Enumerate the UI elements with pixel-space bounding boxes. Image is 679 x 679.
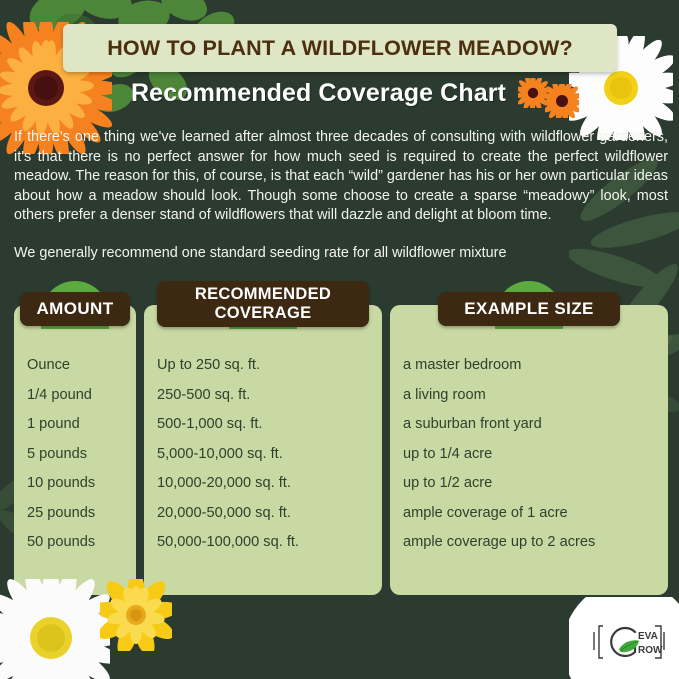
logo-text-row: ROW bbox=[638, 645, 663, 656]
column-header-coverage: RECOMMENDED COVERAGE bbox=[157, 281, 369, 327]
subtitle-row: Recommended Coverage Chart bbox=[0, 78, 679, 108]
table-cell: ample coverage of 1 acre bbox=[390, 499, 668, 529]
table-cell: a living room bbox=[390, 381, 668, 411]
table-cell: 5,000-10,000 sq. ft. bbox=[144, 440, 382, 470]
logo-text-eva: EVA bbox=[638, 631, 658, 642]
table-cell: 50,000-100,000 sq. ft. bbox=[144, 528, 382, 558]
table-cell: 1 pound bbox=[14, 410, 136, 440]
recommendation-paragraph: We generally recommend one standard seed… bbox=[14, 244, 668, 264]
table-cell: 50 pounds bbox=[14, 528, 136, 558]
coverage-table: AMOUNT Ounce 1/4 pound 1 pound 5 pounds … bbox=[14, 305, 668, 595]
small-orange-flower-icon bbox=[518, 78, 548, 108]
table-cell: 1/4 pound bbox=[14, 381, 136, 411]
column-header-amount: AMOUNT bbox=[20, 292, 130, 326]
column-header-amount-label: AMOUNT bbox=[37, 299, 114, 319]
table-cell: 250-500 sq. ft. bbox=[144, 381, 382, 411]
page-title: HOW TO PLANT A WILDFLOWER MEADOW? bbox=[107, 36, 573, 61]
table-cell: 20,000-50,000 sq. ft. bbox=[144, 499, 382, 529]
table-cell: 10,000-20,000 sq. ft. bbox=[144, 469, 382, 499]
intro-paragraph: If there's one thing we've learned after… bbox=[14, 128, 668, 226]
table-column-coverage: RECOMMENDED COVERAGE Up to 250 sq. ft. 2… bbox=[144, 305, 382, 595]
table-cell: 25 pounds bbox=[14, 499, 136, 529]
brand-logo-corner: EVA ROW bbox=[569, 597, 679, 679]
table-cell: Up to 250 sq. ft. bbox=[144, 351, 382, 381]
column-header-coverage-label: RECOMMENDED COVERAGE bbox=[195, 285, 331, 323]
table-cell: ample coverage up to 2 acres bbox=[390, 528, 668, 558]
table-cell: 500-1,000 sq. ft. bbox=[144, 410, 382, 440]
table-column-amount: AMOUNT Ounce 1/4 pound 1 pound 5 pounds … bbox=[14, 305, 136, 595]
table-cell: Ounce bbox=[14, 351, 136, 381]
amount-cells: Ounce 1/4 pound 1 pound 5 pounds 10 poun… bbox=[14, 351, 136, 558]
example-cells: a master bedroom a living room a suburba… bbox=[390, 351, 668, 558]
table-cell: a master bedroom bbox=[390, 351, 668, 381]
table-cell: a suburban front yard bbox=[390, 410, 668, 440]
table-cell: up to 1/4 acre bbox=[390, 440, 668, 470]
eva-grow-logo: EVA ROW bbox=[591, 619, 667, 665]
table-cell: 10 pounds bbox=[14, 469, 136, 499]
page-subtitle: Recommended Coverage Chart bbox=[131, 79, 506, 108]
infographic-poster: HOW TO PLANT A WILDFLOWER MEADOW? Recomm… bbox=[0, 0, 679, 679]
body-copy: If there's one thing we've learned after… bbox=[14, 128, 668, 264]
column-header-example-label: EXAMPLE SIZE bbox=[464, 299, 594, 319]
coverage-cells: Up to 250 sq. ft. 250-500 sq. ft. 500-1,… bbox=[144, 351, 382, 558]
table-column-example: EXAMPLE SIZE a master bedroom a living r… bbox=[390, 305, 668, 595]
table-cell: 5 pounds bbox=[14, 440, 136, 470]
column-header-example: EXAMPLE SIZE bbox=[438, 292, 620, 326]
table-cell: up to 1/2 acre bbox=[390, 469, 668, 499]
title-banner: HOW TO PLANT A WILDFLOWER MEADOW? bbox=[63, 24, 617, 72]
